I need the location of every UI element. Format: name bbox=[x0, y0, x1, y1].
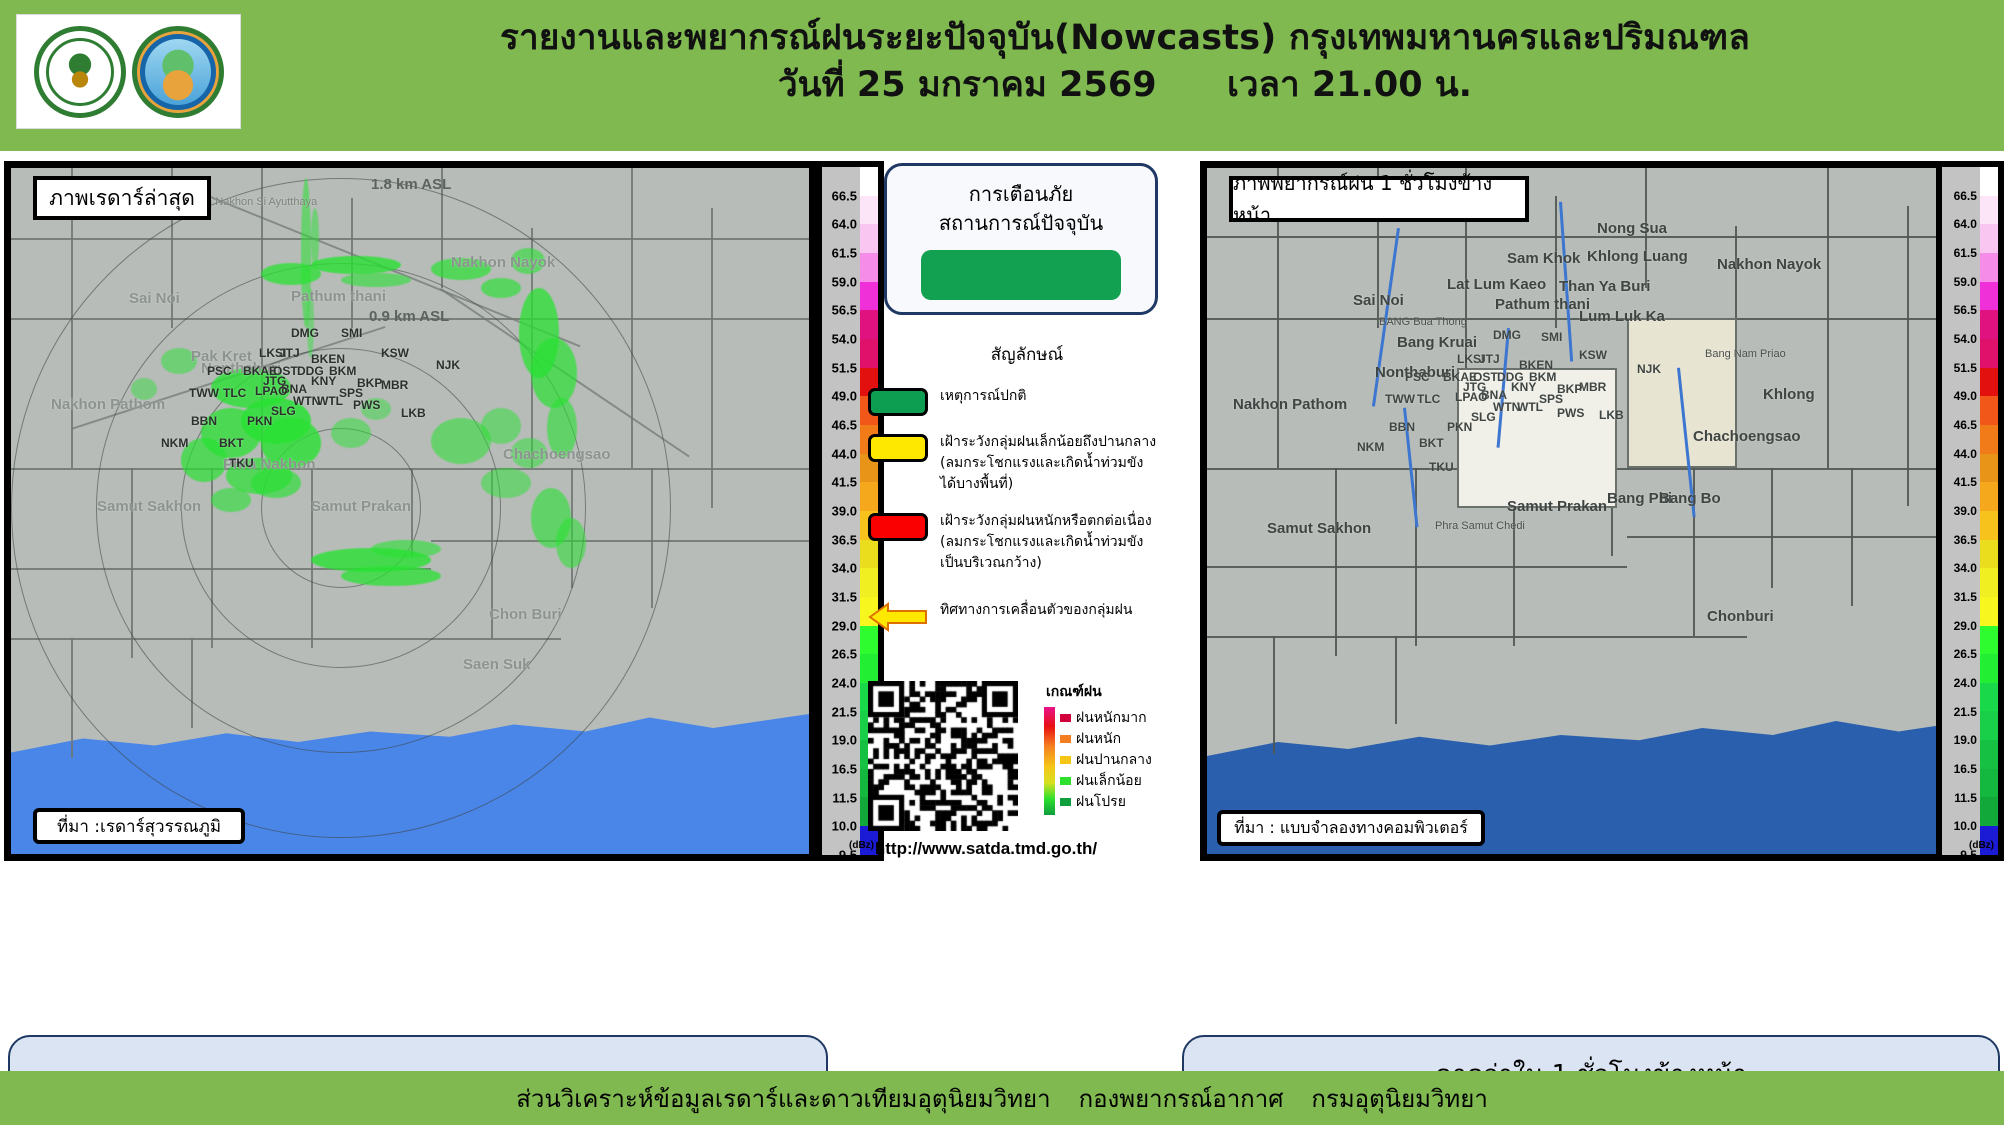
map-place-label: BKM bbox=[1529, 370, 1556, 384]
colorbar-tick-label: 51.5 bbox=[832, 360, 857, 375]
map-place-label: BANG Bua Thong bbox=[1379, 316, 1467, 328]
map-boundary-line bbox=[711, 208, 713, 508]
colorbar-tick-label: 46.5 bbox=[1954, 418, 1977, 432]
colorbar-tick-label: 36.5 bbox=[1954, 533, 1977, 547]
colorbar-tick-label: 61.5 bbox=[832, 246, 857, 261]
colorbar-band bbox=[1980, 482, 1998, 511]
rain-scale-item: ฝนโปรย bbox=[1060, 791, 1126, 813]
radar-panel-title: ภาพเรดาร์ล่าสุด bbox=[33, 176, 211, 220]
map-place-label: SLG bbox=[271, 404, 296, 418]
colorbar-band bbox=[1980, 769, 1998, 798]
colorbar-tick-label: 26.5 bbox=[832, 647, 857, 662]
map-place-label: Lat Lum Kaeo bbox=[1447, 276, 1546, 293]
map-place-label: SMI bbox=[341, 326, 362, 340]
map-place-label: Phra Samut Chedi bbox=[1435, 520, 1525, 532]
map-place-label: OST bbox=[273, 364, 298, 378]
map-place-label: BKT bbox=[1419, 436, 1444, 450]
colorbar-band bbox=[1980, 797, 1998, 826]
map-place-label: DMG bbox=[1493, 328, 1521, 342]
map-place-label: Pathum thani bbox=[1495, 296, 1590, 313]
colorbar-band bbox=[1980, 740, 1998, 769]
legend-heading: สัญลักษณ์ bbox=[862, 341, 1192, 368]
map-place-label: OST bbox=[1473, 370, 1498, 384]
colorbar-band bbox=[1980, 511, 1998, 540]
map-place-label: Saen Suk bbox=[463, 656, 531, 673]
map-place-label: Samut Prakan bbox=[311, 498, 411, 515]
page-title: รายงานและพยากรณ์ฝนระยะปัจจุบัน(Nowcasts)… bbox=[260, 18, 1990, 109]
colorbar-tick-label: 31.5 bbox=[1954, 590, 1977, 604]
legend-item: เฝ้าระวังกลุ่มฝนหนักหรือตกต่อเนื่อง(ลมกร… bbox=[862, 511, 1192, 574]
legend-item-label: ทิศทางการเคลื่อนตัวของกลุ่มฝน bbox=[940, 600, 1132, 621]
radar-echo-blob bbox=[341, 566, 441, 586]
colorbar-tick-label: 54.0 bbox=[1954, 332, 1977, 346]
colorbar-tick-label: 16.5 bbox=[1954, 762, 1977, 776]
colorbar-tick-label: 11.5 bbox=[1954, 791, 1977, 805]
forecast-panel-title: ภาพพยากรณ์ฝน 1 ชั่วโมงข้างหน้า bbox=[1229, 176, 1529, 222]
rain-scale-swatch bbox=[1060, 756, 1071, 764]
warning-card-title: การเตือนภัย สถานการณ์ปัจจุบัน bbox=[887, 180, 1155, 238]
map-place-label: TKU bbox=[1429, 460, 1454, 474]
colorbar-tick-label: 21.5 bbox=[832, 704, 857, 719]
colorbar-band bbox=[1980, 339, 1998, 368]
map-place-label: PSC bbox=[1405, 370, 1430, 384]
colorbar-tick-label: 41.5 bbox=[832, 475, 857, 490]
colorbar-tick-label: 24.0 bbox=[1954, 676, 1977, 690]
colorbar-band bbox=[1980, 310, 1998, 339]
colorbar-tick-label: 49.0 bbox=[1954, 389, 1977, 403]
warning-title-line-2: สถานการณ์ปัจจุบัน bbox=[887, 209, 1155, 238]
website-url[interactable]: http://www.satda.tmd.go.th/ bbox=[856, 839, 1116, 859]
map-place-label: Sam Khok bbox=[1507, 250, 1580, 267]
tmd-seal-icon bbox=[132, 26, 224, 118]
colorbar-band bbox=[1980, 626, 1998, 655]
map-place-label: Bang Kruai bbox=[1397, 334, 1477, 351]
map-place-label: Chon Buri bbox=[489, 606, 562, 623]
colorbar-band bbox=[1980, 568, 1998, 597]
map-place-label: BKP bbox=[1557, 382, 1582, 396]
map-place-label: Than Ya Buri bbox=[1559, 278, 1650, 295]
rain-scale-title: เกณฑ์ฝน bbox=[1046, 681, 1198, 703]
rain-scale-label: ฝนเล็กน้อย bbox=[1076, 770, 1142, 792]
colorbar-band bbox=[1980, 196, 1998, 225]
colorbar-tick-label: 10.0 bbox=[1954, 819, 1977, 833]
colorbar-tick-label: 59.0 bbox=[832, 274, 857, 289]
colorbar-tick-label: 21.5 bbox=[1954, 705, 1977, 719]
radar-source-label: ที่มา :เรดาร์สุวรรณภูมิ bbox=[33, 808, 245, 844]
colorbar-tick-label: 19.0 bbox=[832, 733, 857, 748]
map-place-label: NJK bbox=[436, 358, 460, 372]
map-boundary-line bbox=[1907, 206, 1909, 506]
map-place-label: Pathum thani bbox=[291, 288, 386, 305]
colorbar-tick-label: 16.5 bbox=[832, 762, 857, 777]
forecast-colorbar-ticks: 66.564.061.559.056.554.051.549.046.544.0… bbox=[1942, 167, 1980, 855]
map-place-label: Nakhon Pathom bbox=[1233, 396, 1347, 413]
colorbar-band bbox=[1980, 425, 1998, 454]
colorbar-band bbox=[1980, 167, 1998, 196]
map-place-label: Chachoengsao bbox=[503, 446, 611, 463]
map-place-label: LKB bbox=[401, 406, 426, 420]
center-column: การเตือนภัย สถานการณ์ปัจจุบัน สัญลักษณ์ … bbox=[862, 151, 1192, 1071]
colorbar-tick-label: 26.5 bbox=[1954, 647, 1977, 661]
forecast-colorbar-unit: (dBz) bbox=[1969, 840, 1994, 851]
legend-item: ทิศทางการเคลื่อนตัวของกลุ่มฝน bbox=[862, 600, 1192, 632]
map-place-label: NJK bbox=[1637, 362, 1661, 376]
colorbar-tick-label: 44.0 bbox=[832, 446, 857, 461]
rain-scale-swatch bbox=[1060, 798, 1071, 806]
legend-rows: เหตุการณ์ปกติเฝ้าระวังกลุ่มฝนเล็กน้อยถึง… bbox=[862, 386, 1192, 632]
colorbar-tick-label: 19.0 bbox=[1954, 733, 1977, 747]
map-place-label: Sai Noi bbox=[129, 290, 180, 307]
map-place-label: PWS bbox=[1557, 406, 1584, 420]
colorbar-band bbox=[1980, 597, 1998, 626]
rain-scale-label: ฝนปานกลาง bbox=[1076, 749, 1152, 771]
map-place-label: BBN bbox=[1389, 420, 1415, 434]
map-place-label: Nong Sua bbox=[1597, 220, 1667, 237]
footer-part-2: กองพยากรณ์อากาศ bbox=[1079, 1079, 1284, 1118]
map-place-label: SMI bbox=[1541, 330, 1562, 344]
red-swatch bbox=[868, 513, 928, 541]
map-place-label: BKP bbox=[357, 376, 382, 390]
map-place-label: Bang Nam Priao bbox=[1705, 348, 1786, 360]
map-place-label: PSC bbox=[207, 364, 232, 378]
colorbar-band bbox=[1980, 396, 1998, 425]
title-line-1: รายงานและพยากรณ์ฝนระยะปัจจุบัน(Nowcasts)… bbox=[260, 18, 1990, 59]
colorbar-tick-label: 41.5 bbox=[1954, 475, 1977, 489]
map-place-label: Samut Sakhon bbox=[97, 498, 201, 515]
colorbar-tick-label: 36.5 bbox=[832, 532, 857, 547]
radar-altitude-label-2: 0.9 km ASL bbox=[369, 308, 449, 325]
colorbar-tick-label: 66.5 bbox=[832, 188, 857, 203]
map-boundary-line bbox=[1207, 636, 1507, 638]
map-boundary-line bbox=[1395, 636, 1397, 724]
report-time: เวลา 21.00 น. bbox=[1227, 65, 1472, 105]
colorbar-tick-label: 44.0 bbox=[1954, 447, 1977, 461]
map-boundary-line bbox=[1207, 566, 1627, 568]
map-place-label: JTJ bbox=[279, 346, 300, 360]
colorbar-tick-label: 10.0 bbox=[832, 819, 857, 834]
radar-map-canvas: 1.8 km ASL0.9 km ASL Suphan BuriPhra Nak… bbox=[11, 168, 809, 854]
map-place-label: Nakhon Nayok bbox=[451, 254, 555, 271]
colorbar-band bbox=[1980, 654, 1998, 683]
map-place-label: MBR bbox=[1579, 380, 1606, 394]
map-place-label: PWS bbox=[353, 398, 380, 412]
colorbar-tick-label: 34.0 bbox=[832, 561, 857, 576]
green-swatch bbox=[868, 388, 928, 416]
map-place-label: Chonburi bbox=[1707, 608, 1774, 625]
map-place-label: Samut Prakan bbox=[1507, 498, 1607, 515]
page-footer: ส่วนวิเคราะห์ข้อมูลเรดาร์และดาวเทียมอุตุ… bbox=[0, 1071, 2004, 1125]
map-place-label: BKM bbox=[329, 364, 356, 378]
radar-echo-blob bbox=[556, 518, 586, 568]
map-place-label: MBR bbox=[381, 378, 408, 392]
page-header: รายงานและพยากรณ์ฝนระยะปัจจุบัน(Nowcasts)… bbox=[0, 0, 2004, 151]
colorbar-tick-label: 46.5 bbox=[832, 418, 857, 433]
rain-scale: เกณฑ์ฝน ฝนหนักมากฝนหนักฝนปานกลางฝนเล็กน้… bbox=[1038, 681, 1198, 815]
map-place-label: PKN bbox=[247, 414, 272, 428]
map-place-label: Bang Bo bbox=[1659, 490, 1721, 507]
legend-item-label: เฝ้าระวังกลุ่มฝนเล็กน้อยถึงปานกลาง(ลมกระ… bbox=[940, 432, 1156, 495]
title-line-2: วันที่ 25 มกราคม 2569 เวลา 21.00 น. bbox=[260, 63, 1990, 109]
map-place-label: Chachoengsao bbox=[1693, 428, 1801, 445]
map-place-label: KSW bbox=[1579, 348, 1607, 362]
map-place-label: Samut Sakhon bbox=[1267, 520, 1371, 537]
colorbar-band bbox=[1980, 711, 1998, 740]
legend-item-label: เฝ้าระวังกลุ่มฝนหนักหรือตกต่อเนื่อง(ลมกร… bbox=[940, 511, 1152, 574]
map-boundary-line bbox=[1827, 168, 1829, 468]
map-place-label: PKN bbox=[1447, 420, 1472, 434]
royal-seal-icon bbox=[34, 26, 126, 118]
map-boundary-line bbox=[1335, 468, 1337, 656]
warning-card: การเตือนภัย สถานการณ์ปัจจุบัน bbox=[884, 163, 1158, 315]
colorbar-tick-label: 64.0 bbox=[1954, 217, 1977, 231]
map-boundary-line bbox=[1851, 468, 1853, 606]
rain-scale-item: ฝนหนักมาก bbox=[1060, 707, 1147, 729]
radar-echo-blob bbox=[481, 468, 531, 498]
map-boundary-line bbox=[1507, 636, 1747, 638]
rain-scale-gradient bbox=[1044, 707, 1055, 815]
radar-echo-blob bbox=[331, 418, 371, 448]
map-place-label: TWW bbox=[189, 386, 219, 400]
colorbar-band bbox=[1980, 224, 1998, 253]
radar-echo-blob bbox=[481, 408, 521, 444]
colorbar-band bbox=[1980, 683, 1998, 712]
colorbar-band bbox=[1980, 282, 1998, 311]
rain-scale-label: ฝนหนักมาก bbox=[1076, 707, 1147, 729]
radar-echo-blob bbox=[341, 273, 411, 287]
map-place-label: Khlong Luang bbox=[1587, 248, 1688, 265]
map-place-label: Nakhon Pathom bbox=[51, 396, 165, 413]
colorbar-tick-label: 54.0 bbox=[832, 332, 857, 347]
colorbar-tick-label: 31.5 bbox=[832, 590, 857, 605]
radar-echo-blob bbox=[481, 278, 521, 298]
map-place-label: BKT bbox=[219, 436, 244, 450]
rain-scale-item: ฝนเล็กน้อย bbox=[1060, 770, 1142, 792]
forecast-map-canvas: Suphan BuriPhra Nakhon Si AyutthayaNong … bbox=[1207, 168, 1993, 854]
map-place-label: Sai Noi bbox=[1353, 292, 1404, 309]
colorbar-tick-label: 59.0 bbox=[1954, 275, 1977, 289]
footer-part-3: กรมอุตุนิยมวิทยา bbox=[1311, 1079, 1487, 1118]
radar-echo-blob bbox=[311, 256, 401, 274]
warning-title-line-1: การเตือนภัย bbox=[887, 180, 1155, 209]
legend: สัญลักษณ์ เหตุการณ์ปกติเฝ้าระวังกลุ่มฝนเ… bbox=[862, 341, 1192, 648]
forecast-source-label: ที่มา : แบบจำลองทางคอมพิวเตอร์ bbox=[1217, 810, 1485, 846]
colorbar-tick-label: 66.5 bbox=[1954, 189, 1977, 203]
colorbar-tick-label: 39.0 bbox=[1954, 504, 1977, 518]
colorbar-band bbox=[1980, 540, 1998, 569]
colorbar-band bbox=[1980, 253, 1998, 282]
map-place-label: NKM bbox=[1357, 440, 1384, 454]
map-place-label: LPAO bbox=[255, 384, 287, 398]
nowcast-report-page: รายงานและพยากรณ์ฝนระยะปัจจุบัน(Nowcasts)… bbox=[0, 0, 2004, 1125]
radar-echo-blob bbox=[531, 338, 577, 408]
radar-echo-blob bbox=[211, 488, 251, 512]
status-badge bbox=[921, 250, 1121, 300]
map-boundary-line bbox=[1771, 468, 1773, 588]
map-place-label: BBN bbox=[191, 414, 217, 428]
rain-scale-swatch bbox=[1060, 735, 1071, 743]
left-arrow-icon bbox=[868, 602, 928, 632]
forecast-colorbar-strip bbox=[1980, 167, 1998, 855]
colorbar-tick-label: 24.0 bbox=[832, 676, 857, 691]
colorbar-band bbox=[1980, 368, 1998, 397]
rain-scale-label: ฝนหนัก bbox=[1076, 728, 1121, 750]
colorbar-tick-label: 34.0 bbox=[1954, 561, 1977, 575]
map-place-label: SLG bbox=[1471, 410, 1496, 424]
colorbar-tick-label: 61.5 bbox=[1954, 246, 1977, 260]
legend-item: เหตุการณ์ปกติ bbox=[862, 386, 1192, 416]
radar-map-panel[interactable]: 1.8 km ASL0.9 km ASL Suphan BuriPhra Nak… bbox=[4, 161, 816, 861]
colorbar-tick-label: 29.0 bbox=[832, 618, 857, 633]
map-place-label: LPAO bbox=[1455, 390, 1487, 404]
colorbar-band bbox=[1980, 454, 1998, 483]
main-content: 1.8 km ASL0.9 km ASL Suphan BuriPhra Nak… bbox=[0, 151, 2004, 1071]
forecast-map-panel[interactable]: Suphan BuriPhra Nakhon Si AyutthayaNong … bbox=[1200, 161, 2000, 861]
colorbar-tick-label: 49.0 bbox=[832, 389, 857, 404]
radar-colorbar-ticks: 66.564.061.559.056.554.051.549.046.544.0… bbox=[822, 167, 860, 855]
map-place-label: Lum Luk Ka bbox=[1579, 308, 1665, 325]
colorbar-tick-label: 39.0 bbox=[832, 504, 857, 519]
colorbar-tick-label: 56.5 bbox=[832, 303, 857, 318]
rain-scale-body: ฝนหนักมากฝนหนักฝนปานกลางฝนเล็กน้อยฝนโปรย bbox=[1038, 707, 1198, 815]
rain-scale-item: ฝนปานกลาง bbox=[1060, 749, 1152, 771]
colorbar-tick-label: 51.5 bbox=[1954, 361, 1977, 375]
report-date: วันที่ 25 มกราคม 2569 bbox=[778, 65, 1157, 105]
map-place-label: TWW bbox=[1385, 392, 1415, 406]
map-place-label: DMG bbox=[291, 326, 319, 340]
map-place-label: KSW bbox=[381, 346, 409, 360]
map-place-label: TLC bbox=[223, 386, 246, 400]
footer-part-1: ส่วนวิเคราะห์ข้อมูลเรดาร์และดาวเทียมอุตุ… bbox=[516, 1079, 1050, 1118]
qr-code-icon[interactable] bbox=[868, 681, 1026, 829]
map-place-label: NKM bbox=[161, 436, 188, 450]
legend-item-label: เหตุการณ์ปกติ bbox=[940, 386, 1026, 407]
map-place-label: Khlong bbox=[1763, 386, 1815, 403]
legend-item: เฝ้าระวังกลุ่มฝนเล็กน้อยถึงปานกลาง(ลมกระ… bbox=[862, 432, 1192, 495]
colorbar-tick-label: 56.5 bbox=[1954, 303, 1977, 317]
map-place-label: DDG bbox=[297, 364, 324, 378]
forecast-colorbar: 66.564.061.559.056.554.051.549.046.544.0… bbox=[1936, 161, 2004, 861]
rain-scale-swatch bbox=[1060, 777, 1071, 785]
rain-scale-item: ฝนหนัก bbox=[1060, 728, 1121, 750]
rain-scale-swatch bbox=[1060, 714, 1071, 722]
agency-logos bbox=[16, 14, 241, 129]
map-boundary-line bbox=[1415, 468, 1417, 646]
radar-altitude-label-1: 1.8 km ASL bbox=[371, 176, 451, 193]
colorbar-tick-label: 64.0 bbox=[832, 217, 857, 232]
radar-echo-blob bbox=[371, 540, 441, 558]
map-boundary-line bbox=[1273, 636, 1275, 754]
colorbar-tick-label: 11.5 bbox=[832, 790, 857, 805]
map-place-label: LKB bbox=[1599, 408, 1624, 422]
map-place-label: DDG bbox=[1497, 370, 1524, 384]
colorbar-tick-label: 29.0 bbox=[1954, 619, 1977, 633]
yellow-swatch bbox=[868, 434, 928, 462]
map-place-label: TLC bbox=[1417, 392, 1440, 406]
map-place-label: JTJ bbox=[1479, 352, 1500, 366]
map-place-label: Nakhon Nayok bbox=[1717, 256, 1821, 273]
map-place-label: TKU bbox=[229, 456, 254, 470]
rain-scale-label: ฝนโปรย bbox=[1076, 791, 1126, 813]
